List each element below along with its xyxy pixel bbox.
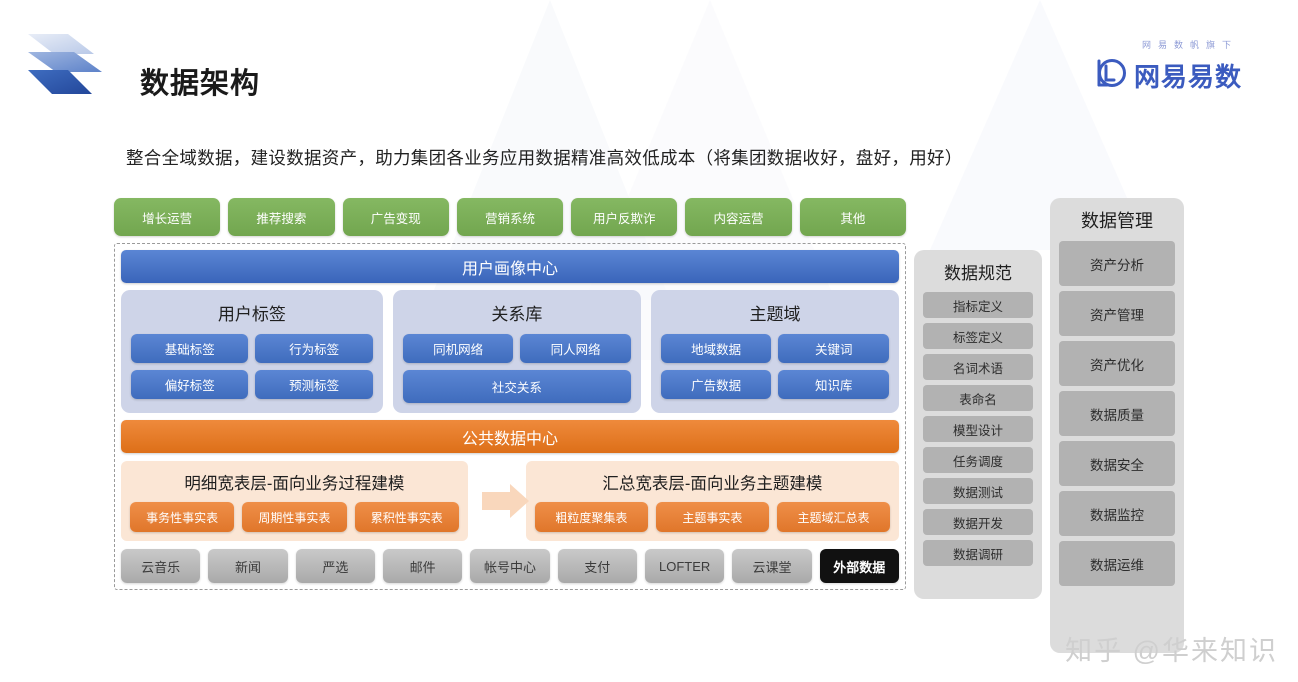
data-management-title: 数据管理 bbox=[1059, 207, 1175, 233]
brand-tagline: 网易数帆旗下 bbox=[1092, 38, 1238, 51]
data-standard-item[interactable]: 模型设计 bbox=[923, 416, 1033, 442]
tag-chip[interactable]: 同机网络 bbox=[403, 334, 514, 363]
fact-table-chip[interactable]: 主题域汇总表 bbox=[777, 502, 890, 532]
tag-chip[interactable]: 预测标签 bbox=[255, 370, 372, 399]
data-management-item[interactable]: 数据监控 bbox=[1059, 491, 1175, 536]
panel-detail-wide-table: 明细宽表层-面向业务过程建模 事务性事实表 周期性事实表 累积性事实表 bbox=[121, 461, 468, 541]
subtitle-text: 整合全域数据，建设数据资产，助力集团各业务应用数据精准高效低成本（将集团数据收好… bbox=[126, 145, 963, 170]
data-standard-item[interactable]: 数据调研 bbox=[923, 540, 1033, 566]
application-box[interactable]: 营销系统 bbox=[457, 198, 563, 236]
panel-title: 主题域 bbox=[661, 300, 889, 325]
application-box[interactable]: 推荐搜索 bbox=[228, 198, 334, 236]
brand-block: 网易数帆旗下 网易易数 bbox=[1092, 38, 1242, 95]
main-architecture-column: 增长运营 推荐搜索 广告变现 营销系统 用户反欺诈 内容运营 其他 用户画像中心… bbox=[114, 198, 906, 590]
brand-name: 网易易数 bbox=[1134, 57, 1242, 94]
public-data-center-title: 公共数据中心 bbox=[121, 420, 899, 453]
layered-arrow-logo-icon bbox=[22, 32, 110, 104]
tag-chip[interactable]: 地域数据 bbox=[661, 334, 772, 363]
application-row: 增长运营 推荐搜索 广告变现 营销系统 用户反欺诈 内容运营 其他 bbox=[114, 198, 906, 236]
panel-title: 汇总宽表层-面向业务主题建模 bbox=[535, 470, 890, 494]
tag-chip[interactable]: 偏好标签 bbox=[131, 370, 248, 399]
application-box[interactable]: 用户反欺诈 bbox=[571, 198, 677, 236]
netease-shuzhi-mark-icon bbox=[1092, 56, 1126, 95]
application-box[interactable]: 增长运营 bbox=[114, 198, 220, 236]
fact-table-chip[interactable]: 累积性事实表 bbox=[355, 502, 459, 532]
data-standard-column: 数据规范 指标定义 标签定义 名词术语 表命名 模型设计 任务调度 数据测试 数… bbox=[914, 250, 1042, 599]
data-standard-item[interactable]: 标签定义 bbox=[923, 323, 1033, 349]
public-data-center-panels: 明细宽表层-面向业务过程建模 事务性事实表 周期性事实表 累积性事实表 汇总宽表… bbox=[121, 461, 899, 541]
data-source-box[interactable]: 帐号中心 bbox=[470, 549, 549, 583]
data-management-item[interactable]: 数据运维 bbox=[1059, 541, 1175, 586]
panel-title: 用户标签 bbox=[131, 300, 373, 325]
application-box[interactable]: 其他 bbox=[800, 198, 906, 236]
data-source-box-external[interactable]: 外部数据 bbox=[820, 549, 899, 583]
fact-table-chip[interactable]: 周期性事实表 bbox=[242, 502, 346, 532]
panel-relation-db: 关系库 同机网络 同人网络 社交关系 bbox=[393, 290, 641, 413]
data-source-box[interactable]: LOFTER bbox=[645, 549, 724, 583]
tag-chip[interactable]: 行为标签 bbox=[255, 334, 372, 363]
panel-summary-wide-table: 汇总宽表层-面向业务主题建模 粗粒度聚集表 主题事实表 主题域汇总表 bbox=[526, 461, 899, 541]
data-management-column: 数据管理 资产分析 资产管理 资产优化 数据质量 数据安全 数据监控 数据运维 bbox=[1050, 198, 1184, 653]
data-management-item[interactable]: 数据安全 bbox=[1059, 441, 1175, 486]
data-source-box[interactable]: 邮件 bbox=[383, 549, 462, 583]
user-profile-center-title: 用户画像中心 bbox=[121, 250, 899, 283]
watermark: 知乎 @华来知识 bbox=[1065, 629, 1278, 668]
data-standard-item[interactable]: 名词术语 bbox=[923, 354, 1033, 380]
data-source-box[interactable]: 支付 bbox=[558, 549, 637, 583]
data-source-box[interactable]: 严选 bbox=[296, 549, 375, 583]
architecture-diagram: 增长运营 推荐搜索 广告变现 营销系统 用户反欺诈 内容运营 其他 用户画像中心… bbox=[114, 198, 1184, 646]
fact-table-chip[interactable]: 粗粒度聚集表 bbox=[535, 502, 648, 532]
user-profile-panels: 用户标签 基础标签 行为标签 偏好标签 预测标签 关系库 同机网络 同人网络 社… bbox=[121, 290, 899, 413]
tag-chip[interactable]: 广告数据 bbox=[661, 370, 772, 399]
fact-table-chip[interactable]: 主题事实表 bbox=[656, 502, 769, 532]
data-management-item[interactable]: 数据质量 bbox=[1059, 391, 1175, 436]
data-standard-item[interactable]: 数据测试 bbox=[923, 478, 1033, 504]
data-source-box[interactable]: 新闻 bbox=[208, 549, 287, 583]
page-title: 数据架构 bbox=[140, 60, 260, 102]
application-box[interactable]: 广告变现 bbox=[343, 198, 449, 236]
panel-title: 明细宽表层-面向业务过程建模 bbox=[130, 470, 459, 494]
data-management-item[interactable]: 资产管理 bbox=[1059, 291, 1175, 336]
data-source-box[interactable]: 云音乐 bbox=[121, 549, 200, 583]
right-arrow-icon bbox=[468, 461, 526, 541]
data-management-item[interactable]: 资产分析 bbox=[1059, 241, 1175, 286]
data-source-box[interactable]: 云课堂 bbox=[732, 549, 811, 583]
tag-chip[interactable]: 知识库 bbox=[778, 370, 889, 399]
fact-table-chip[interactable]: 事务性事实表 bbox=[130, 502, 234, 532]
data-standard-item[interactable]: 指标定义 bbox=[923, 292, 1033, 318]
tag-chip[interactable]: 基础标签 bbox=[131, 334, 248, 363]
data-standard-item[interactable]: 数据开发 bbox=[923, 509, 1033, 535]
user-profile-center-section: 用户画像中心 用户标签 基础标签 行为标签 偏好标签 预测标签 关系库 同机网络 bbox=[114, 243, 906, 590]
application-box[interactable]: 内容运营 bbox=[685, 198, 791, 236]
panel-subject-domain: 主题域 地域数据 关键词 广告数据 知识库 bbox=[651, 290, 899, 413]
panel-user-tags: 用户标签 基础标签 行为标签 偏好标签 预测标签 bbox=[121, 290, 383, 413]
tag-chip[interactable]: 关键词 bbox=[778, 334, 889, 363]
data-management-item[interactable]: 资产优化 bbox=[1059, 341, 1175, 386]
tag-chip[interactable]: 同人网络 bbox=[520, 334, 631, 363]
data-standard-title: 数据规范 bbox=[923, 259, 1033, 284]
data-standard-item[interactable]: 任务调度 bbox=[923, 447, 1033, 473]
data-source-row: 云音乐 新闻 严选 邮件 帐号中心 支付 LOFTER 云课堂 外部数据 bbox=[121, 549, 899, 583]
data-standard-item[interactable]: 表命名 bbox=[923, 385, 1033, 411]
page-header: 数据架构 网易数帆旗下 网易易数 bbox=[0, 0, 1298, 128]
panel-title: 关系库 bbox=[403, 300, 631, 325]
tag-chip[interactable]: 社交关系 bbox=[403, 370, 631, 403]
